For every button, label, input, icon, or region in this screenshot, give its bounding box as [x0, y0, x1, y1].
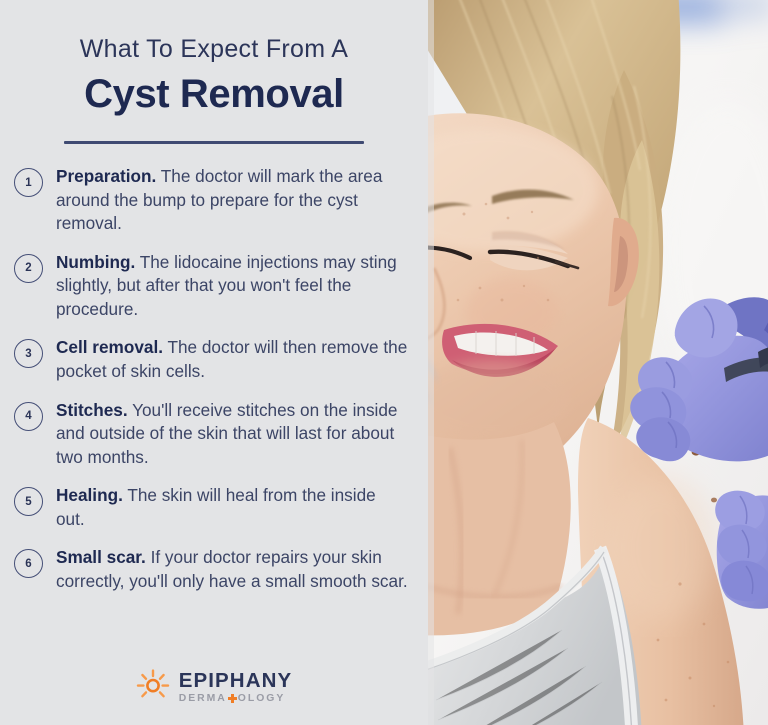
step-text: Cell removal. The doctor will then remov… [56, 336, 408, 383]
list-item: 5 Healing. The skin will heal from the i… [14, 484, 410, 531]
list-item: 3 Cell removal. The doctor will then rem… [14, 336, 410, 383]
step-number-badge: 4 [14, 402, 43, 431]
infographic-root: What To Expect From A Cyst Removal 1 Pre… [0, 0, 768, 725]
step-number-badge: 6 [14, 549, 43, 578]
logo-primary-text: EPIPHANY [179, 671, 293, 692]
logo-secondary-after: OLOGY [238, 694, 286, 704]
brand-logo: EPIPHANY DERMA OLOGY [0, 668, 428, 707]
step-lead: Cell removal. [56, 337, 163, 357]
medical-cross-icon [228, 694, 237, 703]
title-divider [64, 141, 364, 144]
list-item: 2 Numbing. The lidocaine injections may … [14, 251, 410, 322]
step-lead: Preparation. [56, 166, 156, 186]
step-lead: Small scar. [56, 547, 146, 567]
clinic-photo [428, 0, 768, 725]
step-text: Healing. The skin will heal from the ins… [56, 484, 408, 531]
clinic-photo-illustration [428, 0, 768, 725]
step-text: Numbing. The lidocaine injections may st… [56, 251, 408, 322]
step-lead: Healing. [56, 485, 123, 505]
step-lead: Numbing. [56, 252, 135, 272]
logo-secondary-text: DERMA OLOGY [179, 694, 293, 704]
page-kicker: What To Expect From A [0, 34, 428, 64]
logo-wordmark: EPIPHANY DERMA OLOGY [179, 671, 293, 704]
logo-secondary-before: DERMA [179, 694, 227, 704]
step-number-badge: 3 [14, 339, 43, 368]
page-title: Cyst Removal [0, 70, 428, 118]
title-block: What To Expect From A Cyst Removal [0, 0, 428, 144]
step-text: Stitches. You'll receive stitches on the… [56, 399, 408, 470]
step-number-badge: 5 [14, 487, 43, 516]
list-item: 1 Preparation. The doctor will mark the … [14, 165, 410, 236]
list-item: 6 Small scar. If your doctor repairs you… [14, 546, 410, 593]
step-number-badge: 2 [14, 254, 43, 283]
list-item: 4 Stitches. You'll receive stitches on t… [14, 399, 410, 470]
text-panel: What To Expect From A Cyst Removal 1 Pre… [0, 0, 428, 725]
step-lead: Stitches. [56, 400, 128, 420]
sun-icon [136, 668, 170, 707]
steps-list: 1 Preparation. The doctor will mark the … [0, 165, 428, 593]
step-number-badge: 1 [14, 168, 43, 197]
step-text: Preparation. The doctor will mark the ar… [56, 165, 408, 236]
step-text: Small scar. If your doctor repairs your … [56, 546, 408, 593]
